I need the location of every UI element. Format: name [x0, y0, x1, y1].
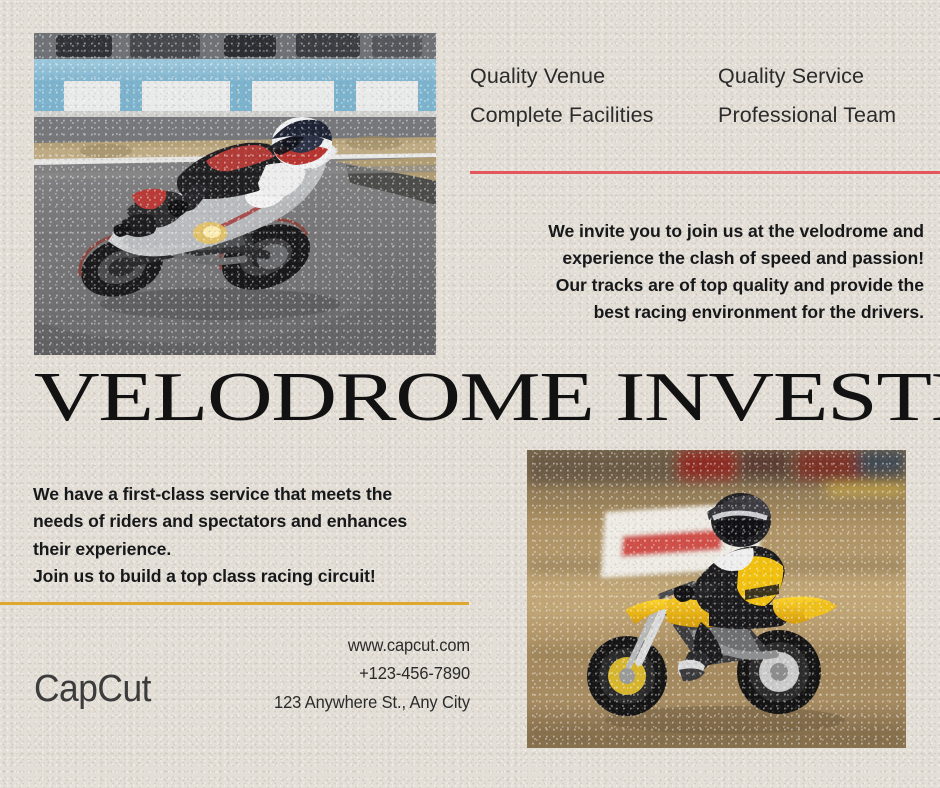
- feature-list: Quality Venue Quality Service Complete F…: [470, 64, 920, 127]
- invitation-line-4: best racing environment for the drivers.: [466, 299, 924, 326]
- service-line-1: We have a first-class service that meets…: [33, 481, 473, 508]
- service-line-3: their experience.: [33, 536, 473, 563]
- service-line-2: needs of riders and spectators and enhan…: [33, 508, 473, 535]
- gold-divider: [0, 602, 469, 605]
- poster-canvas: Quality Venue Quality Service Complete F…: [0, 0, 940, 788]
- feature-quality-service: Quality Service: [718, 64, 920, 89]
- contact-address: 123 Anywhere St., Any City: [169, 688, 470, 716]
- contact-website: www.capcut.com: [169, 631, 470, 659]
- service-paragraph: We have a first-class service that meets…: [33, 481, 473, 590]
- page-title: VELODROME INVESTMENT: [34, 363, 940, 433]
- invitation-line-1: We invite you to join us at the velodrom…: [466, 218, 924, 245]
- feature-professional-team: Professional Team: [718, 103, 920, 128]
- feature-quality-venue: Quality Venue: [470, 64, 718, 89]
- invitation-paragraph: We invite you to join us at the velodrom…: [466, 218, 924, 326]
- motocross-rider-illustration: [527, 450, 906, 748]
- service-line-4: Join us to build a top class racing circ…: [33, 563, 473, 590]
- invitation-line-3: Our tracks are of top quality and provid…: [466, 272, 924, 299]
- contact-info: www.capcut.com +123-456-7890 123 Anywher…: [150, 631, 470, 716]
- contact-phone: +123-456-7890: [169, 659, 470, 687]
- invitation-line-2: experience the clash of speed and passio…: [466, 245, 924, 272]
- photo-road-racing-motorcycle: [34, 33, 436, 355]
- photo-motocross-rider: [527, 450, 906, 748]
- brand-logo-capcut: CapCut: [34, 668, 151, 711]
- feature-complete-facilities: Complete Facilities: [470, 103, 718, 128]
- red-divider: [470, 171, 940, 174]
- road-racing-motorcycle-illustration: [34, 33, 436, 355]
